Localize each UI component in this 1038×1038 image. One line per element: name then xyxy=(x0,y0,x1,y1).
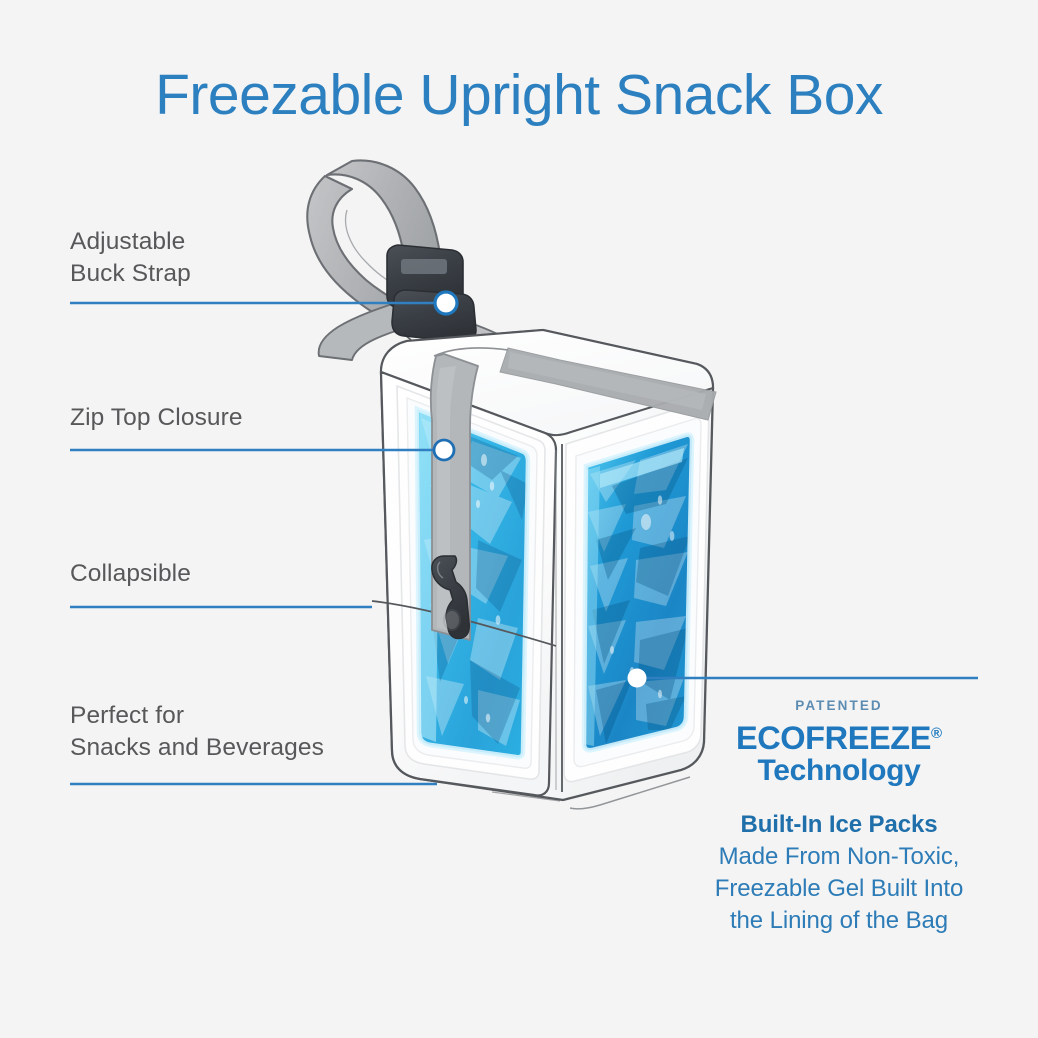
callout-label-line-1: Collapsible xyxy=(70,558,191,590)
ecofreeze-callout-block: PATENTED ECOFREEZE® Technology Built-In … xyxy=(686,698,992,937)
registered-trademark-icon: ® xyxy=(931,725,942,742)
callout-dot-adjustable-buck-strap xyxy=(435,292,457,314)
callout-adjustable-buck-strap: Adjustable Buck Strap xyxy=(70,226,191,291)
ecofreeze-technology-text: Technology xyxy=(686,754,992,787)
callout-label-line-1: Perfect for xyxy=(70,700,324,732)
callout-zip-top-closure: Zip Top Closure xyxy=(70,402,243,434)
infographic-canvas: Freezable Upright Snack Box xyxy=(0,0,1038,1038)
description-line-2: Freezable Gel Built Into xyxy=(686,873,992,905)
ecofreeze-wordmark-text: ECOFREEZE xyxy=(736,720,931,756)
built-in-ice-packs-heading: Built-In Ice Packs xyxy=(686,809,992,840)
strap-buckle xyxy=(387,245,476,350)
ice-packs-description: Made From Non-Toxic, Freezable Gel Built… xyxy=(686,841,992,937)
patented-kicker: PATENTED xyxy=(686,698,992,714)
callout-label-line-1: Zip Top Closure xyxy=(70,402,243,434)
description-line-3: the Lining of the Bag xyxy=(686,905,992,937)
side-gel-ice-pack xyxy=(584,435,692,751)
callout-dot-ecofreeze xyxy=(628,669,647,688)
callout-label-line-2: Buck Strap xyxy=(70,258,191,290)
callout-label-line-2: Snacks and Beverages xyxy=(70,732,324,764)
callout-dot-zip-top-closure xyxy=(434,440,454,460)
ecofreeze-wordmark: ECOFREEZE® xyxy=(686,722,992,755)
callout-label-line-1: Adjustable xyxy=(70,226,191,258)
callout-collapsible: Collapsible xyxy=(70,558,191,590)
description-line-1: Made From Non-Toxic, xyxy=(686,841,992,873)
callout-perfect-for-snacks-and-beverages: Perfect for Snacks and Beverages xyxy=(70,700,324,765)
